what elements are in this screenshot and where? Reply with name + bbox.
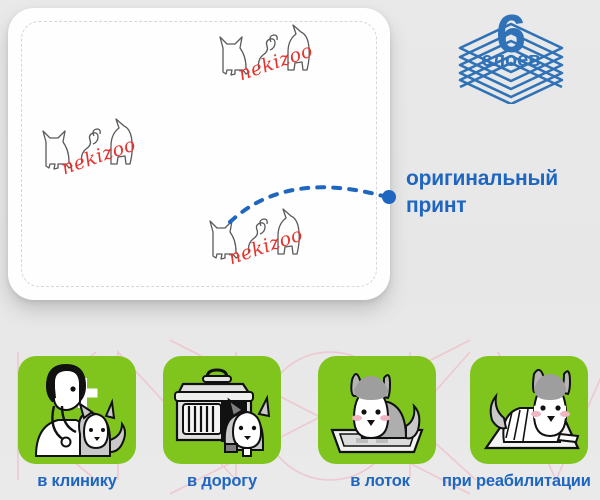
original-print-callout: оригинальный принт [406,166,600,220]
feature-caption: в клинику [18,472,136,491]
leader-dot-icon [382,190,396,204]
product-infographic: nekizoo nekizoo [0,0,600,500]
stacked-layers-icon: 6 слоев [452,4,570,104]
litter-tray-icon [318,356,436,464]
layers-badge: 6 слоев [452,4,570,104]
feature-tiles: в клинику [0,356,600,500]
pet-carrier-icon [163,356,281,464]
pet-pad-panel: nekizoo nekizoo [8,8,390,300]
feature-tile[interactable]: в клинику [18,356,136,491]
feature-tile[interactable]: в дорогу [163,356,281,491]
print-motif: nekizoo [36,116,154,202]
feature-tile[interactable]: в лоток [318,356,436,491]
print-motif: nekizoo [213,22,331,108]
feature-tile[interactable]: при реабилитации [470,356,588,491]
callout-line-1: оригинальный [406,166,600,193]
feature-caption: в лоток [324,472,436,491]
vet-clinic-icon [18,356,136,464]
leader-line-icon [228,176,398,226]
feature-caption: в дорогу [163,472,281,491]
callout-line-2: принт [406,193,600,220]
rehabilitation-icon [470,356,588,464]
layers-label: слоев [481,49,540,71]
feature-caption: при реабилитации [442,472,588,491]
